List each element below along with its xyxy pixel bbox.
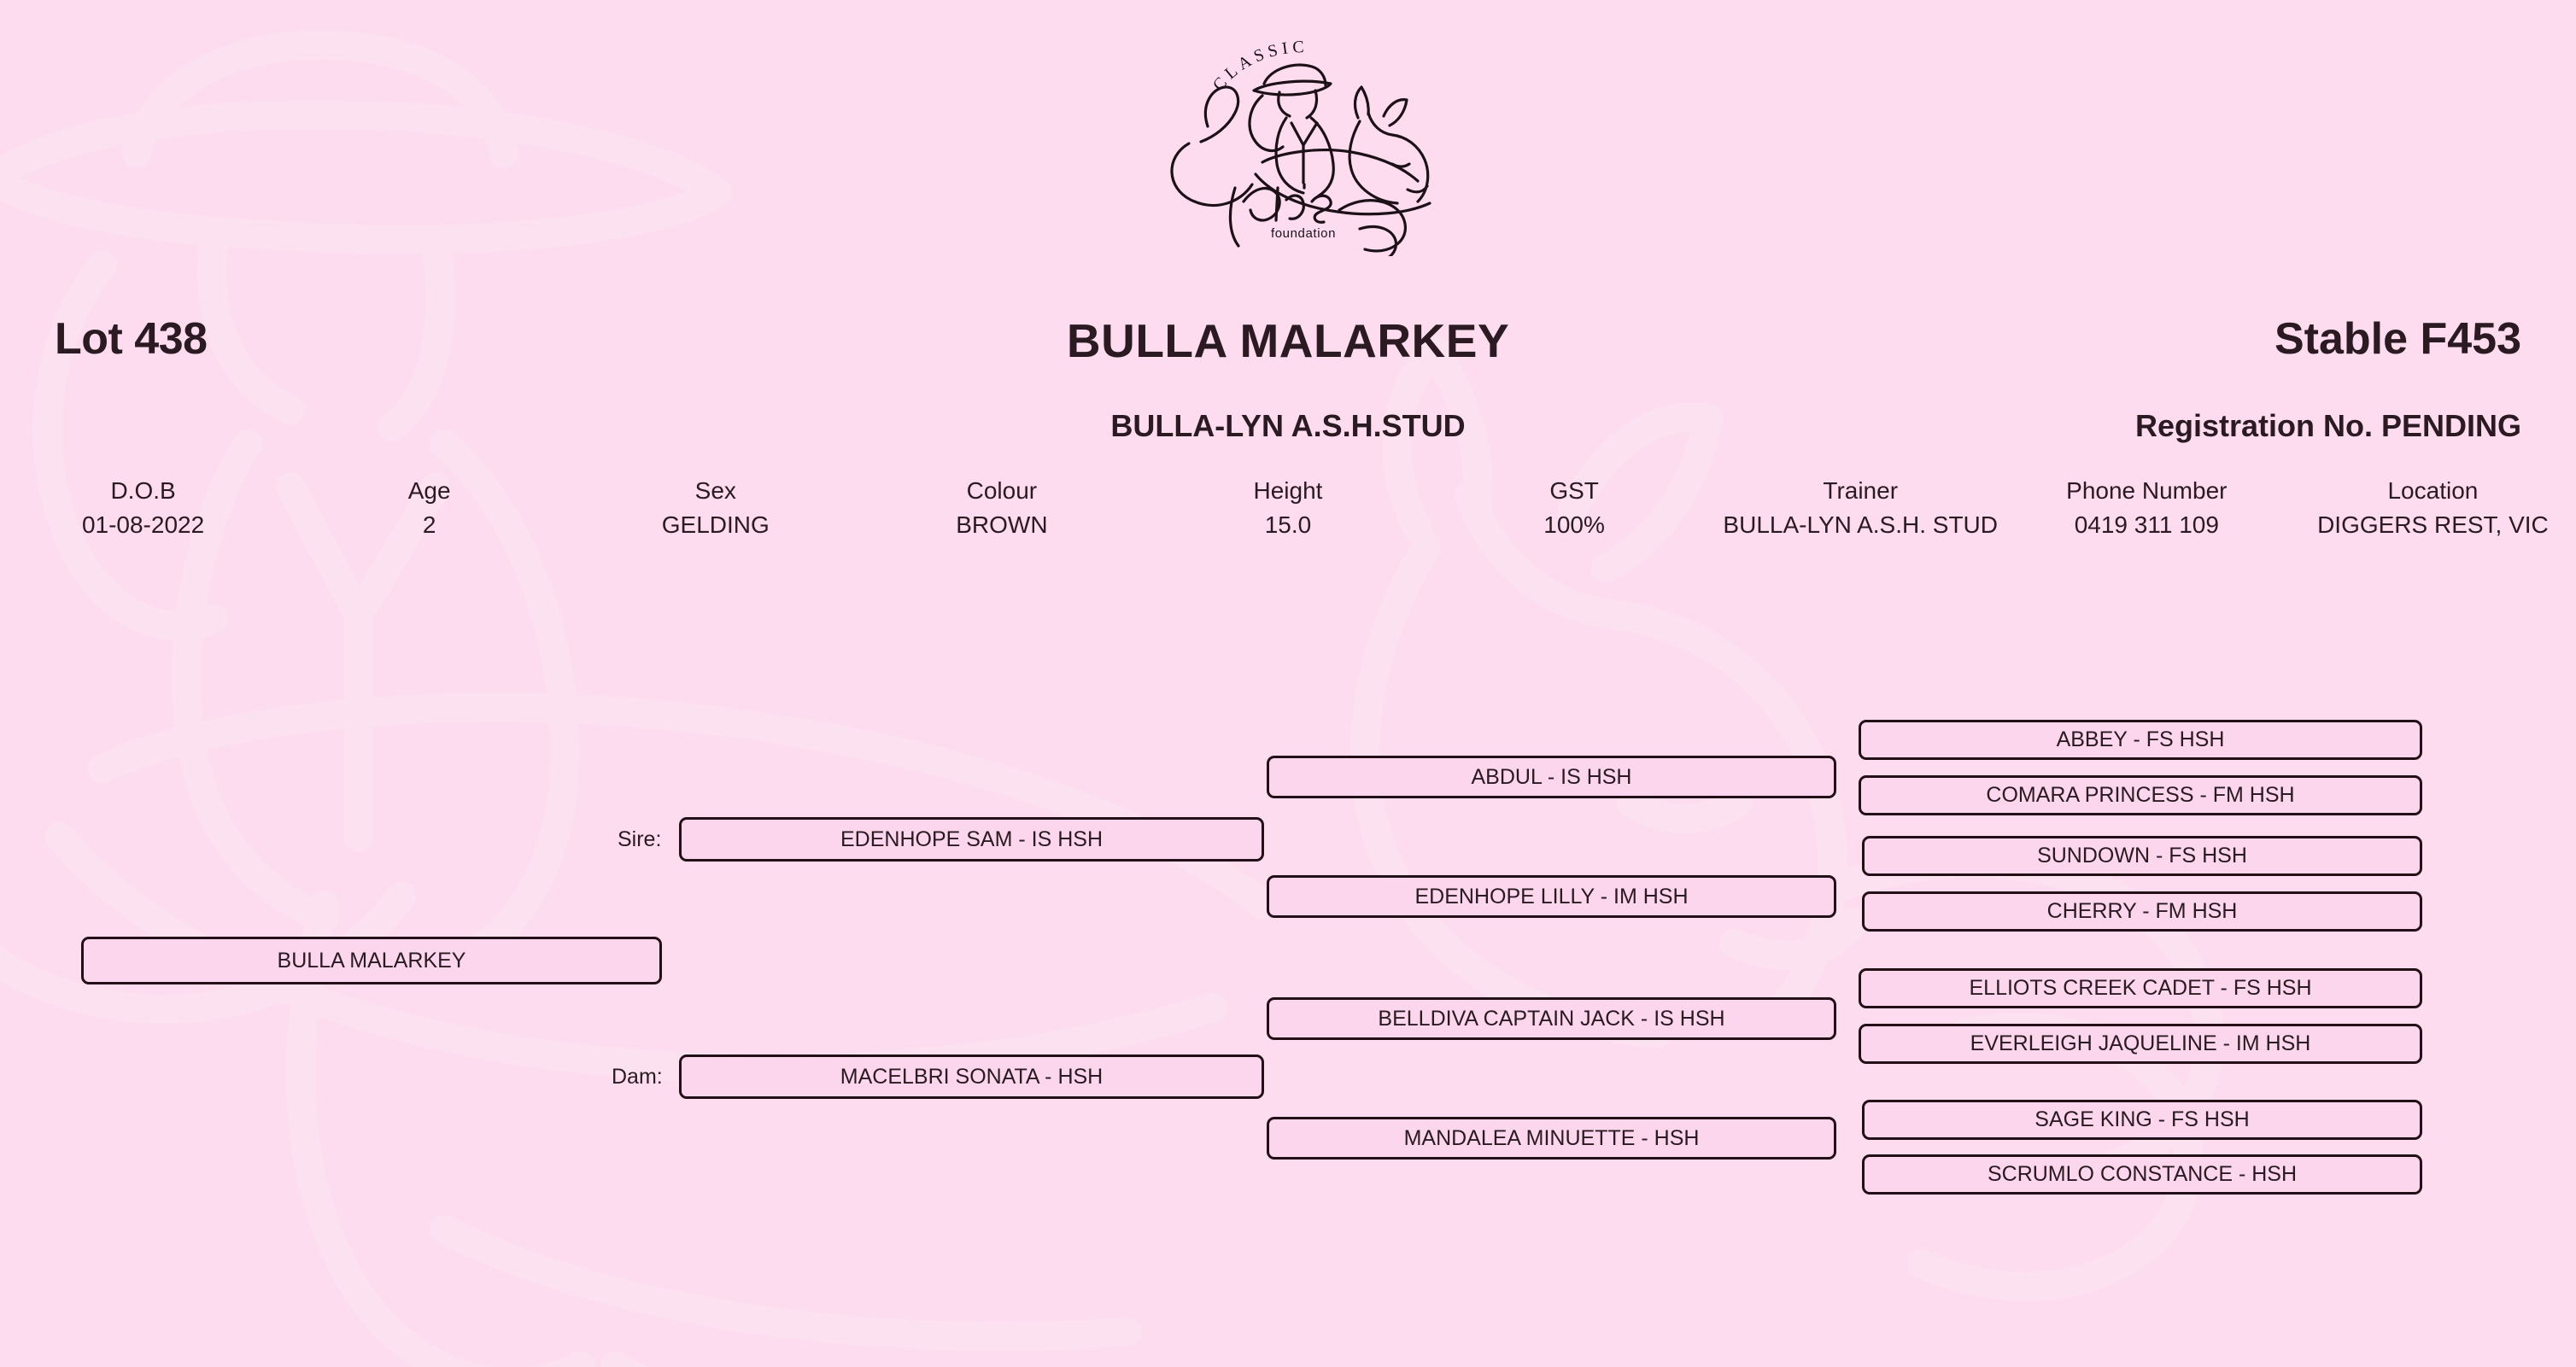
pedigree-box-great-grandparent: CHERRY - FM HSH	[1862, 891, 2422, 932]
pedigree-box-great-grandparent: SCRUMLO CONSTANCE - HSH	[1862, 1154, 2422, 1195]
pedigree-box-grandparent: BELLDIVA CAPTAIN JACK - IS HSH	[1267, 997, 1836, 1040]
detail-label: Phone Number	[2004, 476, 2290, 505]
detail-label: Sex	[572, 476, 858, 505]
pedigree-box-great-grandparent: SAGE KING - FS HSH	[1862, 1100, 2422, 1140]
pedigree-box-sire: EDENHOPE SAM - IS HSH	[679, 817, 1264, 862]
sire-label: Sire:	[618, 829, 661, 850]
pedigree-page: CLASSIC foundation Lot 438 BULLA MALARKE…	[0, 0, 2576, 1367]
detail-sex: Sex GELDING	[572, 476, 858, 545]
classic-ladies-foundation-logo: CLASSIC foundation	[1136, 17, 1443, 256]
detail-dob: D.O.B 01-08-2022	[0, 476, 286, 545]
detail-value: 0419 311 109	[2004, 505, 2290, 545]
pedigree-box-great-grandparent: SUNDOWN - FS HSH	[1862, 836, 2422, 876]
detail-value: 15.0	[1145, 505, 1431, 545]
dam-label: Dam:	[612, 1066, 663, 1088]
detail-value: BULLA-LYN A.S.H. STUD	[1718, 505, 2004, 545]
detail-location: Location DIGGERS REST, VIC	[2290, 476, 2576, 545]
detail-phone: Phone Number 0419 311 109	[2004, 476, 2290, 545]
detail-label: Location	[2290, 476, 2576, 505]
detail-height: Height 15.0	[1145, 476, 1431, 545]
pedigree-box-great-grandparent: COMARA PRINCESS - FM HSH	[1859, 775, 2422, 815]
detail-gst: GST 100%	[1431, 476, 1718, 545]
detail-label: Height	[1145, 476, 1431, 505]
pedigree-box-great-grandparent: EVERLEIGH JAQUELINE - IM HSH	[1859, 1024, 2422, 1064]
detail-label: Trainer	[1718, 476, 2004, 505]
detail-value: 100%	[1431, 505, 1718, 545]
svg-text:foundation: foundation	[1271, 226, 1336, 241]
detail-trainer: Trainer BULLA-LYN A.S.H. STUD	[1718, 476, 2004, 545]
detail-label: D.O.B	[0, 476, 286, 505]
detail-colour: Colour BROWN	[858, 476, 1145, 545]
pedigree-box-grandparent: MANDALEA MINUETTE - HSH	[1267, 1117, 1836, 1160]
horse-details-row: D.O.B 01-08-2022 Age 2 Sex GELDING Colou…	[0, 476, 2576, 545]
detail-label: Colour	[858, 476, 1145, 505]
registration-number: Registration No. PENDING	[2135, 408, 2521, 444]
pedigree-box-dam: MACELBRI SONATA - HSH	[679, 1054, 1264, 1099]
detail-value: GELDING	[572, 505, 858, 545]
detail-value: DIGGERS REST, VIC	[2290, 505, 2576, 545]
detail-value: 2	[286, 505, 572, 545]
detail-value: BROWN	[858, 505, 1145, 545]
pedigree-box-great-grandparent: ABBEY - FS HSH	[1859, 720, 2422, 760]
detail-label: Age	[286, 476, 572, 505]
pedigree-box-subject: BULLA MALARKEY	[81, 937, 662, 984]
pedigree-box-grandparent: ABDUL - IS HSH	[1267, 756, 1836, 798]
pedigree-box-grandparent: EDENHOPE LILLY - IM HSH	[1267, 875, 1836, 918]
detail-value: 01-08-2022	[0, 505, 286, 545]
detail-age: Age 2	[286, 476, 572, 545]
page-title: BULLA MALARKEY	[0, 313, 2576, 368]
detail-label: GST	[1431, 476, 1718, 505]
pedigree-box-great-grandparent: ELLIOTS CREEK CADET - FS HSH	[1859, 968, 2422, 1008]
stable-number: Stable F453	[2274, 313, 2521, 365]
